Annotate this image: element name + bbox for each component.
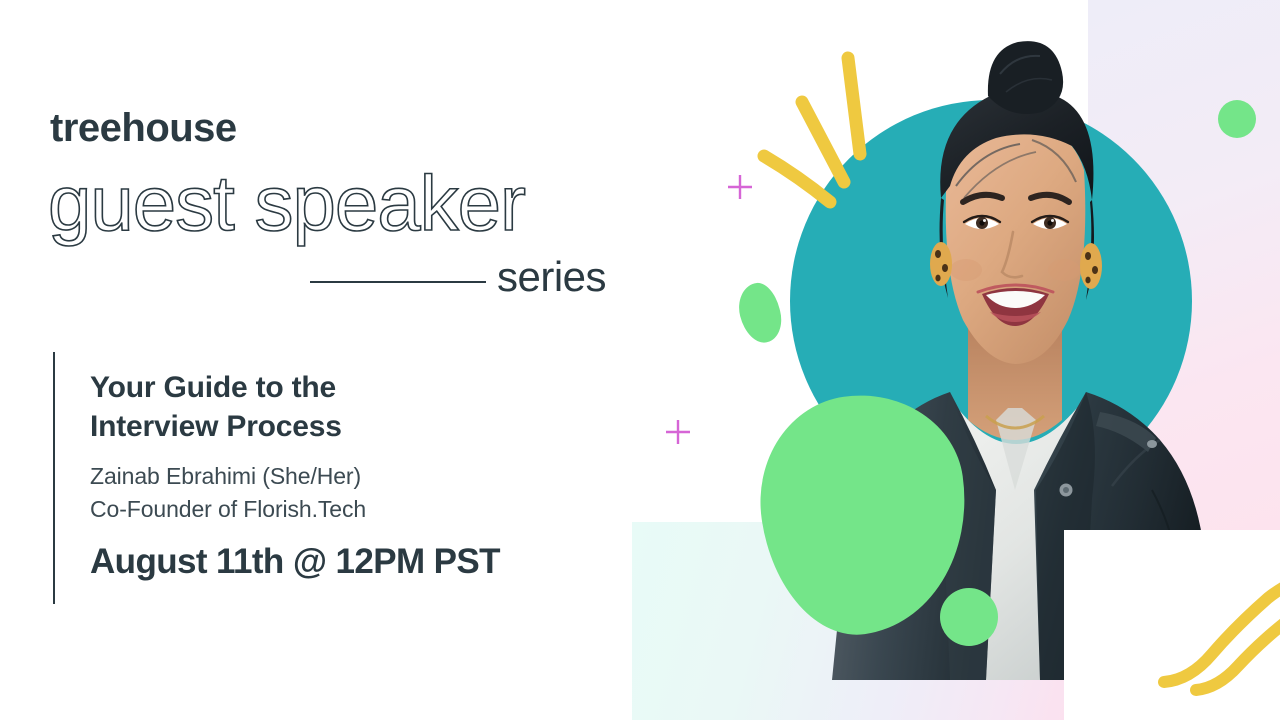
speaker-role: Co-Founder of Florish.Tech — [90, 493, 630, 526]
brand-wordmark: treehouse — [50, 108, 237, 148]
event-title: Your Guide to the Interview Process — [90, 368, 630, 446]
headline-guest-speaker: guest speaker — [42, 160, 662, 250]
green-blob-small — [733, 279, 786, 347]
series-divider-rule — [310, 281, 486, 283]
event-datetime: August 11th @ 12PM PST — [90, 544, 630, 579]
plus-mark-icon — [726, 173, 754, 201]
yellow-burst-strokes — [750, 40, 880, 220]
series-label: series — [497, 256, 606, 298]
event-info-block: Your Guide to the Interview Process Zain… — [90, 368, 630, 579]
vertical-accent-rule — [53, 352, 55, 604]
yellow-wave-strokes — [1160, 570, 1280, 690]
speaker-name: Zainab Ebrahimi (She/Her) — [90, 460, 630, 493]
svg-text:guest speaker: guest speaker — [48, 160, 525, 247]
plus-mark-icon — [664, 418, 692, 446]
green-dot-bottom — [940, 588, 998, 646]
promo-graphic-canvas: treehouse guest speaker series Your Guid… — [0, 0, 1280, 720]
